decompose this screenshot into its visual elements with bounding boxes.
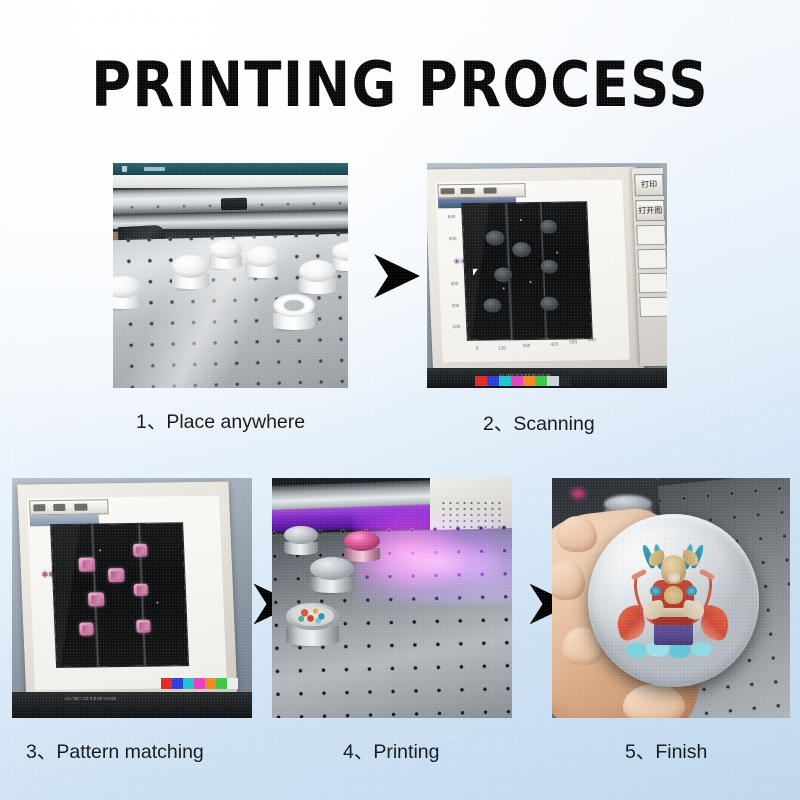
ruler-label-bottom: 425 [551,341,559,346]
palette-swatch-dark[interactable] [559,376,571,386]
print-head-block [221,198,247,211]
ruler-label-left: 100 [452,324,460,329]
arrow-step1-to-step2 [368,248,424,304]
uv-lamp-hotspot [368,536,507,589]
ruler-label-left: 640 [448,214,456,219]
puck-blank [310,557,353,593]
mouse-cursor [472,269,480,276]
blank-puck [332,242,348,271]
palette-swatch-green[interactable] [535,376,547,386]
toolbar-menu-item[interactable] [441,188,455,195]
printed-artwork-ox-deity [615,533,732,664]
ruler-label-bottom: 0 [476,346,479,351]
finger [557,516,597,552]
canvas-speck [99,550,101,552]
palette-swatch-red[interactable] [161,678,172,689]
canvas-speck [556,251,558,253]
photo-monitor-pattern-matching: ✱✱ A1 / B2 / C3 X:0.00 Y:0.00 [12,478,252,718]
detected-object [540,297,558,311]
palette-swatch-orange[interactable] [205,678,216,689]
blank-puck [113,276,141,310]
canvas-speck [503,288,505,290]
status-text: A1 / B2 / C3 X:0.00 Y:0.00 [65,696,116,701]
canvas-speck [520,219,522,221]
palette-swatch-blue[interactable] [487,376,499,386]
matched-pattern [108,568,124,582]
software-toolbar[interactable] [29,499,108,516]
artwork-shading [615,533,732,664]
monitor-screen: 640 500 300 200 100 ✳✳ [435,180,630,362]
monitor-scene: ✱✱ A1 / B2 / C3 X:0.00 Y:0.00 [12,478,252,718]
machine-led-indicator [564,483,593,505]
ruler-label-bottom: 120 [498,346,506,351]
puck-blank [284,526,318,555]
palette-swatch-light[interactable] [227,678,238,689]
puck-top [310,557,353,580]
detected-object [540,260,558,274]
ruler-label-left: 500 [449,236,457,241]
matched-pattern [133,544,148,557]
ruler-label-left: 300 [451,281,459,286]
uv-printing-scene [272,478,512,718]
side-panel-field[interactable] [637,225,666,245]
palette-swatch-magenta[interactable] [194,678,205,689]
palette-swatch-green[interactable] [216,678,227,689]
caption-step-4: 4、Printing [343,740,439,764]
blank-puck-ring [273,294,315,330]
puck-printed [286,603,339,646]
finished-puck [588,514,759,687]
matched-pattern [88,593,104,607]
detected-object [512,242,531,257]
monitor-base: A1 / B2 / C3 X:0.00 Y:0.00 [12,692,252,718]
printing-process-infographic: PRINTING PROCESS [0,0,800,800]
toolbar-icon[interactable] [53,504,66,511]
palette-swatch-cyan[interactable] [183,678,194,689]
match-canvas[interactable] [51,523,188,667]
photo-printer-bed-with-blank-pucks [113,163,348,388]
blank-puck [245,246,280,278]
monitor-scene: 打印 打开图 640 500 300 200 100 ✳✳ [427,163,667,388]
blank-puck [209,240,242,269]
detected-object [486,230,505,245]
puck-top [209,240,242,259]
palette-swatch-cyan[interactable] [499,376,511,386]
palette-swatch-light[interactable] [547,376,559,386]
open-image-button[interactable]: 打开图 [635,199,664,221]
canvas-speck [156,602,158,604]
matched-pattern [136,620,151,633]
color-palette-strip[interactable] [475,376,571,386]
toolbar-menu-item[interactable] [461,187,475,194]
detected-object [540,220,558,234]
scan-canvas[interactable] [462,202,591,340]
color-palette-strip[interactable] [161,678,238,689]
toolbar-icon[interactable] [75,504,88,511]
print-button[interactable]: 打印 [634,173,663,195]
canvas-speck [530,281,532,283]
toolbar-icon[interactable] [33,504,46,511]
puck-top [273,294,315,318]
palette-swatch-orange[interactable] [523,376,535,386]
palette-swatch-magenta[interactable] [511,376,523,386]
monitor-screen: ✱✱ [27,496,227,691]
detected-object [484,299,502,313]
palette-swatch-red[interactable] [475,376,487,386]
ruler-label-bottom: 500 [569,339,577,344]
caption-step-2: 2、Scanning [483,412,595,436]
toolbar-menu-item[interactable] [483,187,497,194]
ruler-label-left: 200 [451,303,459,308]
side-panel-field[interactable] [640,296,667,316]
titlebar-icon [122,166,127,171]
page-title: PRINTING PROCESS [48,54,752,116]
photo-uv-printing-in-progress [272,478,512,718]
side-panel-field[interactable] [639,272,667,292]
finished-product-scene [552,478,790,718]
caption-step-5: 5、Finish [625,740,707,764]
ruler-label-bottom: 250 [523,343,531,348]
matched-pattern [79,623,94,636]
side-panel-field[interactable] [638,248,667,268]
detected-object [493,267,512,282]
caption-step-1: 1、Place anywhere [136,410,305,434]
caption-step-3: 3、Pattern matching [26,740,204,764]
software-title-bar [113,163,348,175]
puck-top [245,246,280,267]
puck-top [344,531,380,551]
printed-artwork [292,606,334,626]
ruler-label-bottom: 600 [588,337,596,342]
titlebar-label [144,167,165,172]
matched-pattern [133,583,148,596]
puck-top [284,526,318,544]
printer-bed-scene [113,163,348,388]
photo-monitor-scanning-objects: 打印 打开图 640 500 300 200 100 ✳✳ [427,163,667,388]
software-toolbar[interactable] [437,183,526,199]
photo-finished-printed-puck-in-hand [552,478,790,718]
matched-pattern [79,557,95,571]
palette-swatch-blue[interactable] [172,678,183,689]
